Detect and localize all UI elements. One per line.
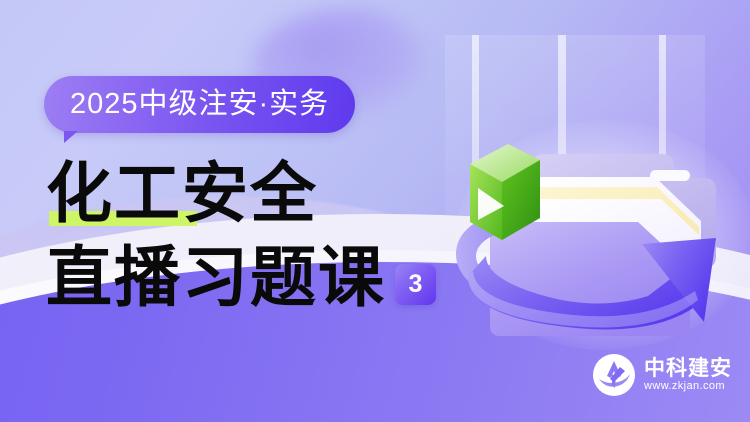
title-line-2: 直播习题课 <box>46 240 386 314</box>
brand-name: 中科建安 <box>644 358 732 379</box>
title-line-2-row: 直播习题课 3 <box>46 236 466 314</box>
folder-documents-arrow-illustration <box>420 40 740 350</box>
brand-logo: 中科建安 www.zkjan.com <box>593 354 732 396</box>
episode-number-badge: 3 <box>395 264 436 305</box>
course-category-label: 2025中级注安·实务 <box>70 90 329 119</box>
course-category-badge: 2025中级注安·实务 <box>44 76 355 133</box>
title-line-1: 化工安全 <box>46 156 318 230</box>
brand-url: www.zkjan.com <box>644 381 732 392</box>
brand-text-block: 中科建安 www.zkjan.com <box>644 358 732 392</box>
title-line-1-row: 化工安全 <box>46 152 466 230</box>
page-title: 化工安全 直播习题课 3 <box>46 152 466 314</box>
zkjan-logo-icon <box>593 354 635 396</box>
course-promo-banner: 2025中级注安·实务 化工安全 直播习题课 3 中科建安 <box>0 0 750 422</box>
episode-number-label: 3 <box>409 272 423 297</box>
badge-tail-decoration <box>64 131 78 143</box>
